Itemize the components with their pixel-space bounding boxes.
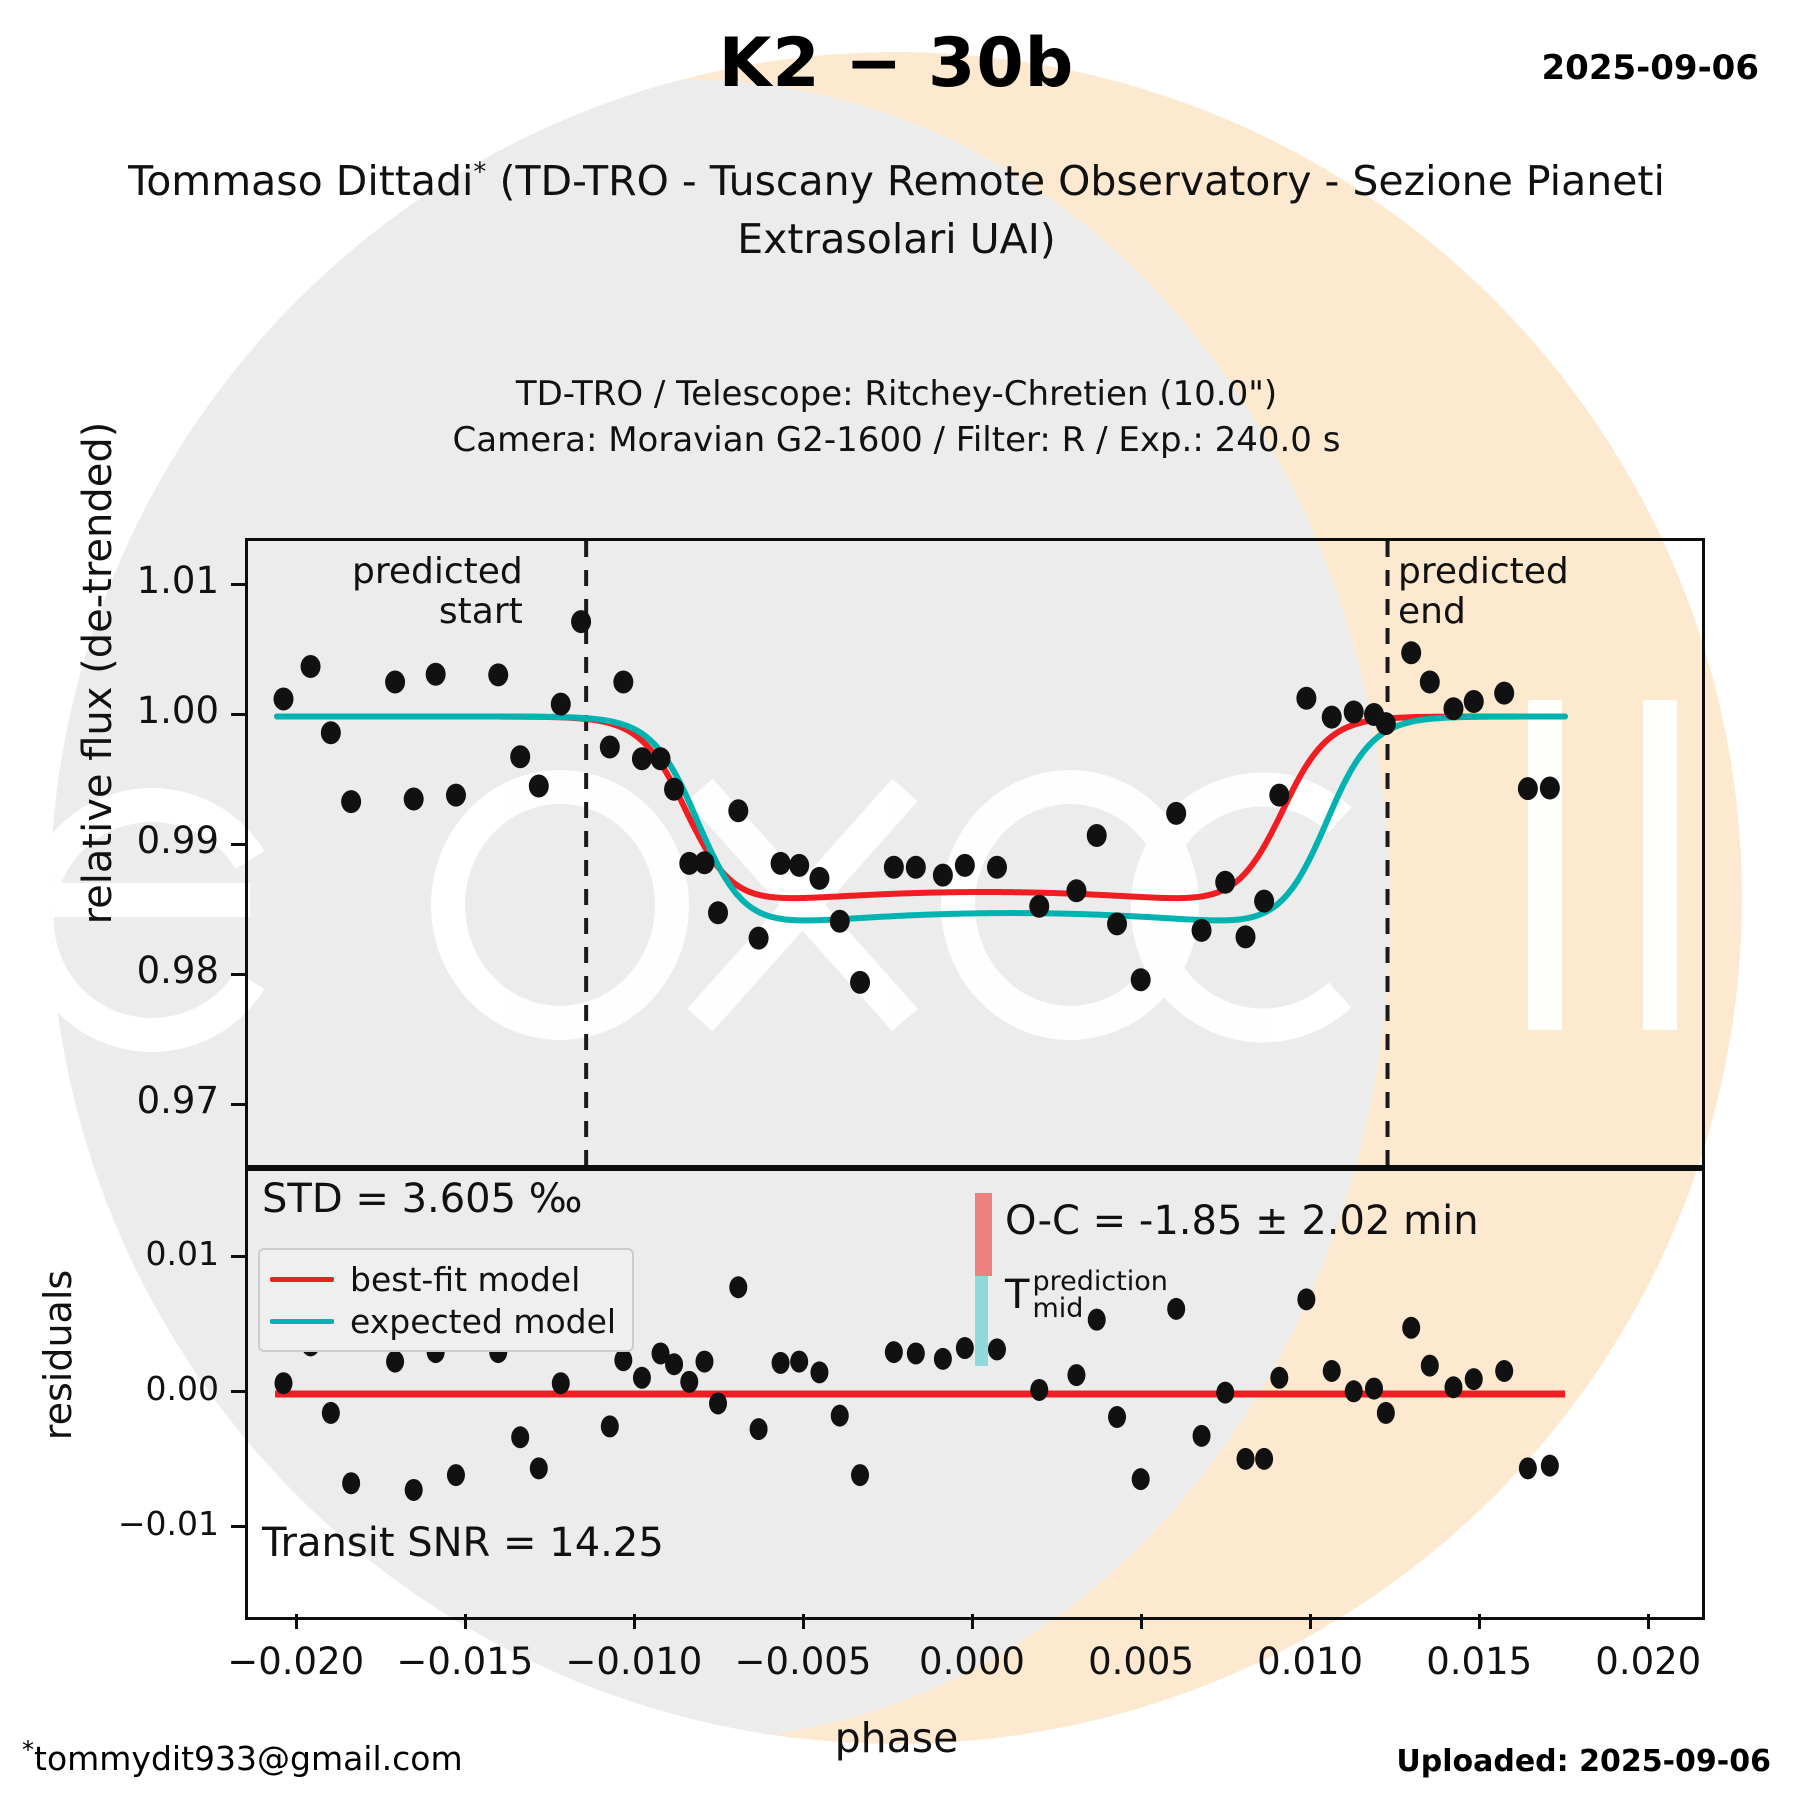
legend-item-expected: expected model bbox=[270, 1300, 616, 1342]
setup-line-2: Camera: Moravian G2-1600 / Filter: R / E… bbox=[0, 418, 1793, 464]
data-point bbox=[1322, 706, 1342, 729]
residual-point bbox=[750, 1418, 768, 1440]
residual-point bbox=[790, 1351, 808, 1373]
x-tick-label: 0.000 bbox=[919, 1640, 1025, 1683]
contact-email: *tommydit933@gmail.com bbox=[22, 1736, 463, 1778]
model-curve-expected bbox=[277, 717, 1565, 921]
residual-point bbox=[1132, 1468, 1150, 1490]
legend-label-expected: expected model bbox=[350, 1302, 616, 1341]
residual-point bbox=[1519, 1457, 1537, 1479]
observation-date: 2025-09-06 bbox=[1542, 48, 1759, 88]
data-point bbox=[1131, 968, 1151, 991]
y-tick-mark-main bbox=[231, 583, 245, 586]
residual-point bbox=[322, 1402, 340, 1424]
residual-point bbox=[729, 1276, 747, 1298]
data-point bbox=[301, 655, 321, 678]
tmid-subscript: mid bbox=[1032, 1295, 1167, 1322]
data-point bbox=[551, 693, 571, 716]
x-tick-mark bbox=[971, 1614, 974, 1629]
legend-swatch-expected bbox=[270, 1319, 334, 1324]
data-point bbox=[446, 784, 466, 807]
data-point bbox=[274, 687, 294, 710]
x-tick-label: 0.015 bbox=[1426, 1640, 1532, 1683]
residual-point bbox=[1237, 1448, 1255, 1470]
y-tick-mark-main bbox=[231, 1103, 245, 1106]
oc-marker-bar-best-fit bbox=[975, 1193, 992, 1276]
residual-point bbox=[1255, 1448, 1273, 1470]
oc-marker-bar-prediction bbox=[975, 1276, 988, 1366]
x-tick-mark bbox=[1309, 1614, 1312, 1629]
residual-point bbox=[1365, 1378, 1383, 1400]
data-point bbox=[1107, 912, 1127, 935]
residual-point bbox=[810, 1361, 828, 1383]
residual-point bbox=[1495, 1360, 1513, 1382]
data-point bbox=[1029, 895, 1049, 918]
residual-point bbox=[907, 1342, 925, 1364]
residual-point bbox=[342, 1472, 360, 1494]
residual-point bbox=[709, 1392, 727, 1414]
y-tick-mark-residuals bbox=[231, 1390, 245, 1393]
residual-point bbox=[665, 1353, 683, 1375]
author-name: Tommaso Dittadi bbox=[128, 157, 473, 205]
data-point bbox=[1518, 777, 1538, 800]
y-tick-mark-main bbox=[231, 843, 245, 846]
y-tick-label-main: 0.98 bbox=[137, 949, 219, 992]
data-point bbox=[571, 610, 591, 633]
data-point bbox=[1494, 682, 1514, 705]
residual-point bbox=[772, 1352, 790, 1374]
data-point bbox=[600, 736, 620, 759]
predicted-start-line2: start bbox=[352, 592, 523, 632]
residual-point bbox=[680, 1371, 698, 1393]
residual-point bbox=[1193, 1425, 1211, 1447]
data-point bbox=[789, 854, 809, 877]
data-point bbox=[728, 799, 748, 822]
y-tick-label-residuals: 0.00 bbox=[146, 1369, 219, 1408]
y-axis-label-residuals: residuals bbox=[36, 1215, 80, 1495]
x-tick-mark bbox=[1140, 1614, 1143, 1629]
data-point bbox=[906, 856, 926, 879]
data-point bbox=[1215, 871, 1235, 894]
lightcurve-svg bbox=[248, 541, 1702, 1165]
residual-point bbox=[1377, 1402, 1395, 1424]
residual-point bbox=[1402, 1317, 1420, 1339]
residual-point bbox=[1216, 1382, 1234, 1404]
x-tick-label: −0.015 bbox=[396, 1640, 533, 1683]
x-tick-label: 0.005 bbox=[1088, 1640, 1194, 1683]
y-tick-label-main: 1.01 bbox=[137, 559, 219, 602]
chart-legend: best-fit model expected model bbox=[258, 1248, 634, 1352]
x-tick-label: 0.020 bbox=[1595, 1640, 1701, 1683]
predicted-end-label: predicted end bbox=[1398, 552, 1569, 633]
residual-point bbox=[1270, 1367, 1288, 1389]
x-tick-label: −0.010 bbox=[565, 1640, 702, 1683]
residual-point bbox=[1444, 1376, 1462, 1398]
data-point bbox=[1540, 777, 1560, 800]
residual-point bbox=[1323, 1360, 1341, 1382]
x-tick-mark bbox=[295, 1614, 298, 1629]
instrument-setup: TD-TRO / Telescope: Ritchey-Chretien (10… bbox=[0, 372, 1793, 464]
residual-point bbox=[1345, 1380, 1363, 1402]
setup-line-1: TD-TRO / Telescope: Ritchey-Chretien (10… bbox=[0, 372, 1793, 418]
data-point bbox=[1066, 879, 1086, 902]
data-point bbox=[529, 775, 549, 798]
residual-point bbox=[1541, 1455, 1559, 1477]
email-text: tommydit933@gmail.com bbox=[34, 1739, 463, 1778]
residual-point bbox=[405, 1479, 423, 1501]
data-point bbox=[1401, 641, 1421, 664]
residual-point bbox=[275, 1372, 293, 1394]
data-point bbox=[341, 790, 361, 813]
residual-point bbox=[447, 1464, 465, 1486]
y-tick-label-residuals: −0.01 bbox=[118, 1504, 219, 1543]
residual-point bbox=[1030, 1379, 1048, 1401]
y-tick-label-main: 0.99 bbox=[137, 819, 219, 862]
x-tick-label: 0.010 bbox=[1257, 1640, 1363, 1683]
residual-point bbox=[934, 1348, 952, 1370]
y-tick-mark-main bbox=[231, 713, 245, 716]
residual-point bbox=[1167, 1298, 1185, 1320]
y-axis-label-main: relative flux (de-trended) bbox=[75, 363, 121, 983]
residual-point bbox=[1465, 1368, 1483, 1390]
data-point bbox=[1269, 784, 1289, 807]
residual-point bbox=[695, 1351, 713, 1373]
data-point bbox=[1296, 687, 1316, 710]
data-point bbox=[708, 901, 728, 924]
x-tick-mark bbox=[1478, 1614, 1481, 1629]
tmid-prediction-label: T prediction mid bbox=[1005, 1268, 1168, 1322]
data-point bbox=[404, 788, 424, 811]
legend-swatch-best-fit bbox=[270, 1277, 334, 1282]
data-point bbox=[987, 856, 1007, 879]
x-tick-mark bbox=[802, 1614, 805, 1629]
data-point bbox=[488, 663, 508, 686]
data-point bbox=[426, 663, 446, 686]
data-point bbox=[1254, 890, 1274, 913]
data-point bbox=[1344, 700, 1364, 723]
email-asterisk: * bbox=[22, 1736, 34, 1764]
data-point bbox=[933, 864, 953, 887]
page-title: K2 − 30b bbox=[0, 24, 1793, 103]
data-point bbox=[884, 856, 904, 879]
residual-point bbox=[511, 1426, 529, 1448]
data-point bbox=[830, 910, 850, 933]
data-point bbox=[1236, 925, 1256, 948]
data-point bbox=[1443, 697, 1463, 720]
x-tick-mark bbox=[1647, 1614, 1650, 1629]
predicted-start-line1: predicted bbox=[352, 552, 523, 592]
residual-point bbox=[530, 1457, 548, 1479]
residual-point bbox=[1297, 1288, 1315, 1310]
data-point bbox=[385, 671, 405, 694]
y-tick-label-main: 0.97 bbox=[137, 1079, 219, 1122]
residual-point bbox=[552, 1372, 570, 1394]
data-point bbox=[771, 852, 791, 875]
tmid-supsub: prediction mid bbox=[1032, 1268, 1167, 1322]
data-point bbox=[321, 721, 341, 744]
residual-point bbox=[831, 1405, 849, 1427]
data-point bbox=[850, 971, 870, 994]
x-tick-mark bbox=[464, 1614, 467, 1629]
x-tick-label: −0.005 bbox=[734, 1640, 871, 1683]
data-point bbox=[632, 747, 652, 770]
data-point bbox=[651, 747, 671, 770]
residual-point bbox=[851, 1464, 869, 1486]
y-tick-label-main: 1.00 bbox=[137, 689, 219, 732]
y-tick-mark-residuals bbox=[231, 1255, 245, 1258]
tmid-superscript: prediction bbox=[1032, 1268, 1167, 1295]
data-point bbox=[749, 927, 769, 950]
residual-point bbox=[633, 1367, 651, 1389]
data-point bbox=[664, 778, 684, 801]
y-tick-label-residuals: 0.01 bbox=[146, 1234, 219, 1273]
residual-point bbox=[601, 1415, 619, 1437]
residual-point bbox=[885, 1341, 903, 1363]
x-tick-mark bbox=[633, 1614, 636, 1629]
legend-label-best-fit: best-fit model bbox=[350, 1260, 580, 1299]
data-point bbox=[955, 854, 975, 877]
predicted-end-line1: predicted bbox=[1398, 552, 1569, 592]
transit-snr-text: Transit SNR = 14.25 bbox=[262, 1520, 664, 1566]
oc-value-text: O-C = -1.85 ± 2.02 min bbox=[1005, 1198, 1479, 1244]
y-tick-mark-residuals bbox=[231, 1525, 245, 1528]
legend-item-best-fit: best-fit model bbox=[270, 1258, 616, 1300]
upload-date: Uploaded: 2025-09-06 bbox=[1396, 1744, 1771, 1779]
author-line: Tommaso Dittadi* (TD-TRO - Tuscany Remot… bbox=[0, 152, 1793, 268]
residual-point bbox=[1108, 1406, 1126, 1428]
author-asterisk: * bbox=[473, 157, 486, 187]
data-point bbox=[1166, 802, 1186, 825]
residual-point bbox=[1421, 1355, 1439, 1377]
tmid-base: T bbox=[1005, 1272, 1029, 1318]
residual-point bbox=[988, 1338, 1006, 1360]
residual-point bbox=[386, 1351, 404, 1373]
residual-point bbox=[956, 1337, 974, 1359]
x-tick-label: −0.020 bbox=[227, 1640, 364, 1683]
data-point bbox=[1192, 919, 1212, 942]
data-point bbox=[694, 851, 714, 874]
data-point bbox=[1087, 824, 1107, 847]
data-point bbox=[1420, 671, 1440, 694]
std-text: STD = 3.605 ‰ bbox=[262, 1176, 582, 1222]
residual-point bbox=[1067, 1364, 1085, 1386]
data-point bbox=[1464, 690, 1484, 713]
predicted-end-line2: end bbox=[1398, 592, 1569, 632]
data-point bbox=[613, 671, 633, 694]
y-tick-mark-main bbox=[231, 973, 245, 976]
predicted-start-label: predicted start bbox=[352, 552, 523, 633]
data-point bbox=[1376, 712, 1396, 735]
data-point bbox=[510, 745, 530, 768]
author-affiliation: (TD-TRO - Tuscany Remote Observatory - S… bbox=[486, 157, 1664, 263]
data-point bbox=[809, 867, 829, 890]
residual-point bbox=[614, 1349, 632, 1371]
